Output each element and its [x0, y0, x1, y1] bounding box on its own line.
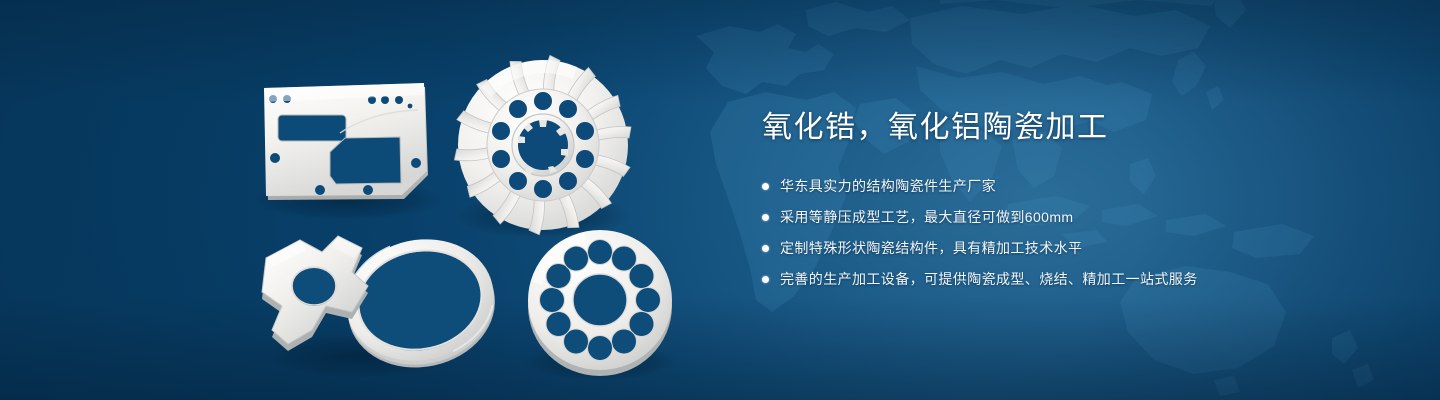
ceramic-star-plate: [262, 236, 368, 351]
list-item-label: 定制特殊形状陶瓷结构件，具有精加工技术水平: [780, 238, 1082, 258]
ceramic-flat-plate: [264, 83, 428, 200]
bullet-dot-icon: [762, 276, 769, 283]
bullet-dot-icon: [762, 214, 769, 221]
bullet-dot-icon: [762, 245, 769, 252]
list-item: 定制特殊形状陶瓷结构件，具有精加工技术水平: [762, 238, 1322, 258]
bullet-dot-icon: [762, 183, 769, 190]
list-item-label: 完善的生产加工设备，可提供陶瓷成型、烧结、精加工一站式服务: [780, 269, 1198, 289]
hero-banner: 氧化锆，氧化铝陶瓷加工 华东具实力的结构陶瓷件生产厂家 采用等静压成型工艺，最大…: [0, 0, 1440, 400]
list-item-label: 采用等静压成型工艺，最大直径可做到600mm: [780, 207, 1073, 227]
feature-list: 华东具实力的结构陶瓷件生产厂家 采用等静压成型工艺，最大直径可做到600mm 定…: [762, 176, 1322, 289]
list-item: 完善的生产加工设备，可提供陶瓷成型、烧结、精加工一站式服务: [762, 269, 1322, 289]
product-photo-cluster: [0, 0, 720, 400]
list-item: 采用等静压成型工艺，最大直径可做到600mm: [762, 207, 1322, 227]
page-title: 氧化锆，氧化铝陶瓷加工: [762, 108, 1322, 148]
list-item: 华东具实力的结构陶瓷件生产厂家: [762, 176, 1322, 196]
list-item-label: 华东具实力的结构陶瓷件生产厂家: [780, 176, 996, 196]
copy-block: 氧化锆，氧化铝陶瓷加工 华东具实力的结构陶瓷件生产厂家 采用等静压成型工艺，最大…: [762, 108, 1322, 300]
ceramic-hole-ring: [528, 230, 672, 376]
